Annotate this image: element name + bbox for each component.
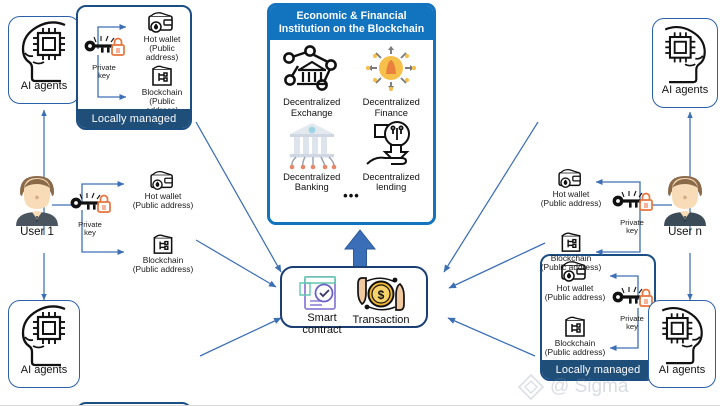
- hot-wallet-label: Hot wallet (Public address): [132, 192, 194, 210]
- hot-wallet-icon: [147, 11, 177, 35]
- user-avatar-icon: ●: [8, 170, 66, 226]
- user-1-wallet-cluster: Private key Hot wallet (Public address): [66, 170, 196, 275]
- private-key-group-user1: Private key: [68, 190, 112, 237]
- private-key-icon: [610, 188, 654, 214]
- blockchain-group-usern: Blockchain (Public address): [540, 230, 602, 272]
- blockchain-icon: [149, 63, 175, 88]
- institution-card: Economic & Financial Institution on the …: [267, 3, 436, 225]
- agent-box-top-left[interactable]: AI agents: [8, 16, 80, 104]
- blockchain-icon: [150, 232, 176, 256]
- ai-head-chip-icon: [654, 19, 716, 87]
- private-key-label: Private key: [68, 221, 112, 237]
- user-1-label: User 1: [6, 226, 68, 238]
- svg-text:$: $: [378, 288, 385, 302]
- decentralized-lending-icon: [355, 119, 427, 171]
- institution-item-decentralized-exchange[interactable]: Decentralized Exchange: [272, 44, 352, 118]
- private-key-icon: [68, 190, 112, 216]
- blockchain-icon: [558, 230, 584, 254]
- locally-managed-bar: Locally managed: [542, 360, 654, 379]
- private-key-icon: [610, 284, 654, 310]
- ai-head-chip-icon: [651, 301, 713, 367]
- hot-wallet-label: Hot wallet (Public address): [132, 35, 192, 62]
- institution-ellipsis: •••: [272, 193, 431, 202]
- smart-contract-icon: [296, 274, 348, 312]
- private-key-icon: [82, 33, 126, 59]
- smart-contract-item[interactable]: Smart contract: [296, 274, 348, 337]
- institution-title-line2: Institution on the Blockchain: [279, 23, 424, 35]
- smart-contract-label: Smart contract: [302, 312, 341, 337]
- institution-item-caption: Decentralized Finance: [363, 97, 420, 118]
- agent-label: AI agents: [21, 81, 67, 92]
- ai-head-chip-icon: [11, 301, 77, 367]
- institution-item-caption: Decentralized Banking: [283, 172, 340, 193]
- blockchain-group-tl: Blockchain (Public address): [132, 63, 192, 115]
- diagram-canvas: Economic & Financial Institution on the …: [0, 0, 720, 406]
- private-key-label: Private key: [82, 64, 126, 80]
- institution-item-decentralized-lending[interactable]: Decentralized lending: [352, 119, 432, 193]
- up-arrow-to-institution: [339, 228, 381, 270]
- decentralized-banking-icon: [276, 119, 348, 171]
- blockchain-group-user1: Blockchain (Public address): [132, 232, 194, 274]
- blockchain-icon: [562, 314, 588, 339]
- locally-managed-panel-top-left[interactable]: Private key Hot wallet (Public address): [76, 5, 192, 130]
- user-n-wallet-cluster: Private key Hot wallet (Public address): [540, 168, 670, 273]
- decentralized-finance-icon: [355, 44, 427, 96]
- agent-box-bottom-right[interactable]: AI agents: [648, 300, 716, 388]
- hot-wallet-group-user1: Hot wallet (Public address): [132, 170, 194, 210]
- hot-wallet-label: Hot wallet (Public address): [540, 190, 602, 208]
- private-key-group-usern: Private key: [610, 188, 654, 235]
- locally-managed-bar: Locally managed: [78, 109, 190, 128]
- user-1-group[interactable]: ● User 1: [6, 170, 68, 238]
- user-avatar-icon: ●: [656, 170, 714, 226]
- agent-box-bottom-left[interactable]: AI agents: [8, 300, 80, 388]
- ai-head-chip-icon: [11, 17, 77, 83]
- institution-title: Economic & Financial Institution on the …: [270, 6, 433, 40]
- institution-title-line1: Economic & Financial: [296, 10, 406, 22]
- svg-text:●: ●: [682, 192, 687, 202]
- institution-item-caption: Decentralized lending: [363, 172, 420, 193]
- hot-wallet-group-tl: Hot wallet (Public address): [132, 11, 192, 62]
- institution-item-decentralized-banking[interactable]: Decentralized Banking: [272, 119, 352, 193]
- private-key-label: Private key: [610, 219, 654, 235]
- agent-label: AI agents: [21, 365, 67, 376]
- hot-wallet-icon: [148, 170, 178, 192]
- user-n-label: User n: [654, 226, 716, 238]
- user-n-group[interactable]: ● User n: [654, 170, 716, 238]
- hot-wallet-label: Hot wallet (Public address): [544, 284, 606, 302]
- institution-item-decentralized-finance[interactable]: Decentralized Finance: [352, 44, 432, 118]
- transaction-item[interactable]: $ Transaction: [350, 274, 412, 326]
- private-key-group-tl: Private key: [82, 33, 126, 80]
- institution-grid: Decentralized Exchange: [272, 44, 431, 192]
- blockchain-label: Blockchain (Public address): [540, 254, 602, 272]
- hot-wallet-group-usern: Hot wallet (Public address): [540, 168, 602, 208]
- transaction-icon: $: [350, 274, 412, 314]
- agent-box-top-right[interactable]: AI agents: [652, 18, 718, 108]
- blockchain-label: Blockchain (Public address): [544, 339, 606, 357]
- blockchain-group-tr: Blockchain (Public address): [544, 314, 606, 357]
- locally-managed-panel-top-right[interactable]: Private key Hot wallet (Public address): [540, 254, 656, 381]
- svg-text:●: ●: [34, 192, 39, 202]
- transaction-label: Transaction: [352, 314, 409, 326]
- institution-item-caption: Decentralized Exchange: [283, 97, 340, 118]
- institution-body: Decentralized Exchange: [270, 40, 433, 201]
- blockchain-label: Blockchain (Public address): [132, 256, 194, 274]
- hot-wallet-icon: [556, 168, 586, 190]
- smart-contract-transaction-box[interactable]: Smart contract $ Transaction: [280, 266, 428, 328]
- decentralized-exchange-icon: [276, 44, 348, 96]
